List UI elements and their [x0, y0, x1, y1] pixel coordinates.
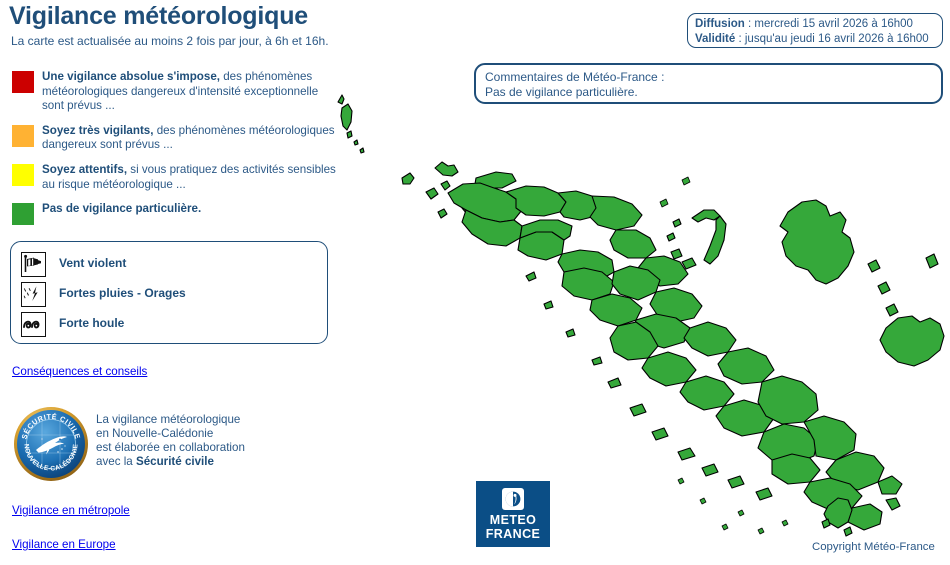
legend-item-jaune: Soyez attentifs, si vous pratiquez des a… [12, 163, 342, 192]
meteo-france-mark-icon [502, 488, 524, 510]
heavy-swell-icon [21, 312, 46, 337]
map-area-west-islets [526, 272, 772, 500]
legend-swatch-rouge [12, 71, 34, 93]
risk-pictogram-box: Vent violent Fortes pluies - Orages [10, 241, 328, 344]
legend-text-rouge: Une vigilance absolue s'impose, des phén… [42, 70, 342, 114]
link-consequences-et-conseils[interactable]: Conséquences et conseils [12, 365, 147, 378]
map-area-south-tip [878, 476, 902, 510]
legend-bold-jaune: Soyez attentifs, [42, 163, 127, 176]
legend-text-orange: Soyez très vigilants, des phénomènes mét… [42, 124, 342, 153]
map-area-mare [880, 316, 944, 366]
meteo-france-line-2: FRANCE [476, 527, 550, 541]
meteo-france-line-1: METEO [476, 513, 550, 527]
diffusion-value: : mercredi 15 avril 2026 à 16h00 [745, 18, 913, 30]
windsock-icon [21, 252, 46, 277]
link-vigilance-metropole[interactable]: Vigilance en métropole [12, 504, 130, 517]
map-commune-kouaoua [684, 322, 736, 356]
risk-label-forte-houle: Forte houle [59, 316, 124, 330]
legend-swatch-jaune [12, 164, 34, 186]
legend-item-orange: Soyez très vigilants, des phénomènes mét… [12, 124, 342, 153]
vigilance-page: Vigilance météorologique La carte est ac… [0, 0, 950, 565]
secu-line-4: avec la Sécurité civile [96, 455, 245, 469]
secu-line-3: est élaborée en collaboration [96, 441, 245, 455]
validity-line: Validité : jusqu'au jeudi 16 avril 2026 … [695, 32, 935, 47]
secu-line-4-prefix: avec la [96, 455, 136, 468]
secu-line-1: La vigilance météorologique [96, 413, 245, 427]
securite-civile-text: La vigilance météorologique en Nouvelle-… [96, 413, 245, 469]
validity-label: Validité [695, 33, 735, 45]
diffusion-line: Diffusion : mercredi 15 avril 2026 à 16h… [695, 17, 935, 32]
vigilance-map-nouvelle-caledonie[interactable] [330, 60, 950, 565]
map-commune-yate [758, 376, 818, 424]
diffusion-validity-box: Diffusion : mercredi 15 avril 2026 à 16h… [687, 13, 943, 48]
risk-label-vent-violent: Vent violent [59, 256, 126, 270]
secu-line-4-bold: Sécurité civile [136, 455, 214, 468]
legend-text-jaune: Soyez attentifs, si vous pratiquez des a… [42, 163, 342, 192]
securite-civile-logo: SÉCURITÉ CIVILE NOUVELLE-CALÉDONIE [12, 405, 90, 483]
map-commune-noumea-dumbea [772, 454, 820, 484]
map-area-belep [338, 95, 364, 153]
diffusion-label: Diffusion [695, 18, 745, 30]
legend-text-vert: Pas de vigilance particulière. [42, 202, 342, 217]
legend-item-vert: Pas de vigilance particulière. [12, 202, 342, 222]
legend-bold-rouge: Une vigilance absolue s'impose, [42, 70, 220, 83]
legend-bold-vert: Pas de vigilance particulière. [42, 202, 201, 215]
legend-swatch-vert [12, 203, 34, 225]
map-commune-touho [610, 230, 656, 258]
map-commune-poum [448, 183, 522, 222]
legend-bold-orange: Soyez très vigilants, [42, 124, 153, 137]
map-commune-hienghene [590, 196, 642, 230]
page-title: Vigilance météorologique [9, 2, 308, 31]
meteo-france-logo: METEO FRANCE [476, 481, 550, 547]
page-subtitle: La carte est actualisée au moins 2 fois … [11, 34, 329, 48]
map-commune-extreme-sud [848, 504, 882, 530]
risk-label-fortes-pluies-orages: Fortes pluies - Orages [59, 286, 186, 300]
map-commune-thio [718, 348, 774, 384]
map-area-lifou [780, 200, 854, 284]
legend-item-rouge: Une vigilance absolue s'impose, des phén… [12, 70, 342, 114]
secu-line-2: en Nouvelle-Calédonie [96, 427, 245, 441]
rain-thunderstorm-icon [21, 282, 46, 307]
validity-value: : jusqu'au jeudi 16 avril 2026 à 16h00 [735, 33, 928, 45]
map-area-tiga [868, 254, 938, 316]
meteo-france-wordmark: METEO FRANCE [476, 513, 550, 541]
vigilance-level-legend: Une vigilance absolue s'impose, des phén… [12, 70, 342, 230]
copyright-text: Copyright Météo-France [812, 541, 935, 553]
legend-swatch-orange [12, 125, 34, 147]
link-vigilance-europe[interactable]: Vigilance en Europe [12, 538, 116, 551]
